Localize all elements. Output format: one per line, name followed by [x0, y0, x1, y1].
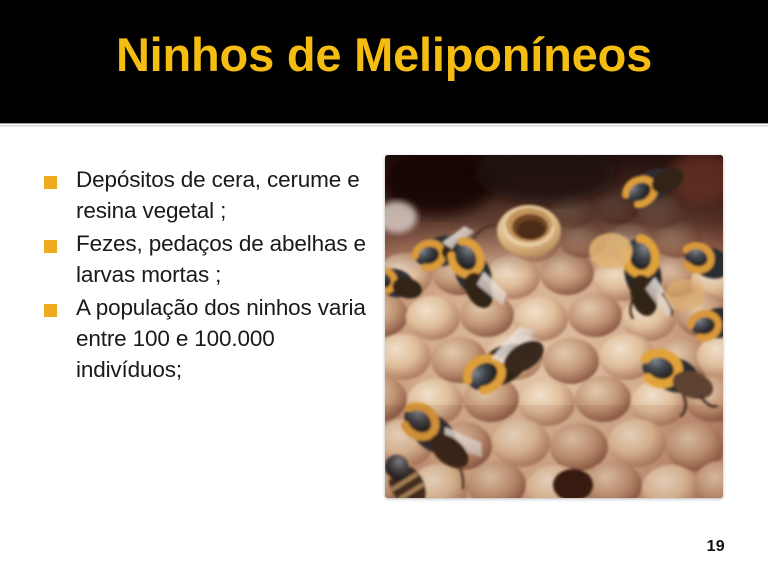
list-item-label: Fezes, pedaços de abelhas e larvas morta… — [76, 228, 374, 290]
list-item: A população dos ninhos varia entre 100 e… — [44, 292, 374, 385]
square-bullet-icon — [44, 176, 57, 189]
list-item: Fezes, pedaços de abelhas e larvas morta… — [44, 228, 374, 290]
list-item-label: Depósitos de cera, cerume e resina veget… — [76, 164, 374, 226]
square-bullet-icon — [44, 240, 57, 253]
bee-nest-photo — [385, 155, 723, 498]
list-item: Depósitos de cera, cerume e resina veget… — [44, 164, 374, 226]
bee-nest-photo-canvas — [385, 155, 723, 498]
header-divider-shadow — [0, 126, 768, 128]
slide: Ninhos de Meliponíneos Depósitos de cera… — [0, 0, 768, 576]
page-title: Ninhos de Meliponíneos — [0, 26, 768, 84]
page-number: 19 — [707, 538, 725, 556]
square-bullet-icon — [44, 304, 57, 317]
bullet-list: Depósitos de cera, cerume e resina veget… — [44, 164, 374, 387]
list-item-label: A população dos ninhos varia entre 100 e… — [76, 292, 374, 385]
